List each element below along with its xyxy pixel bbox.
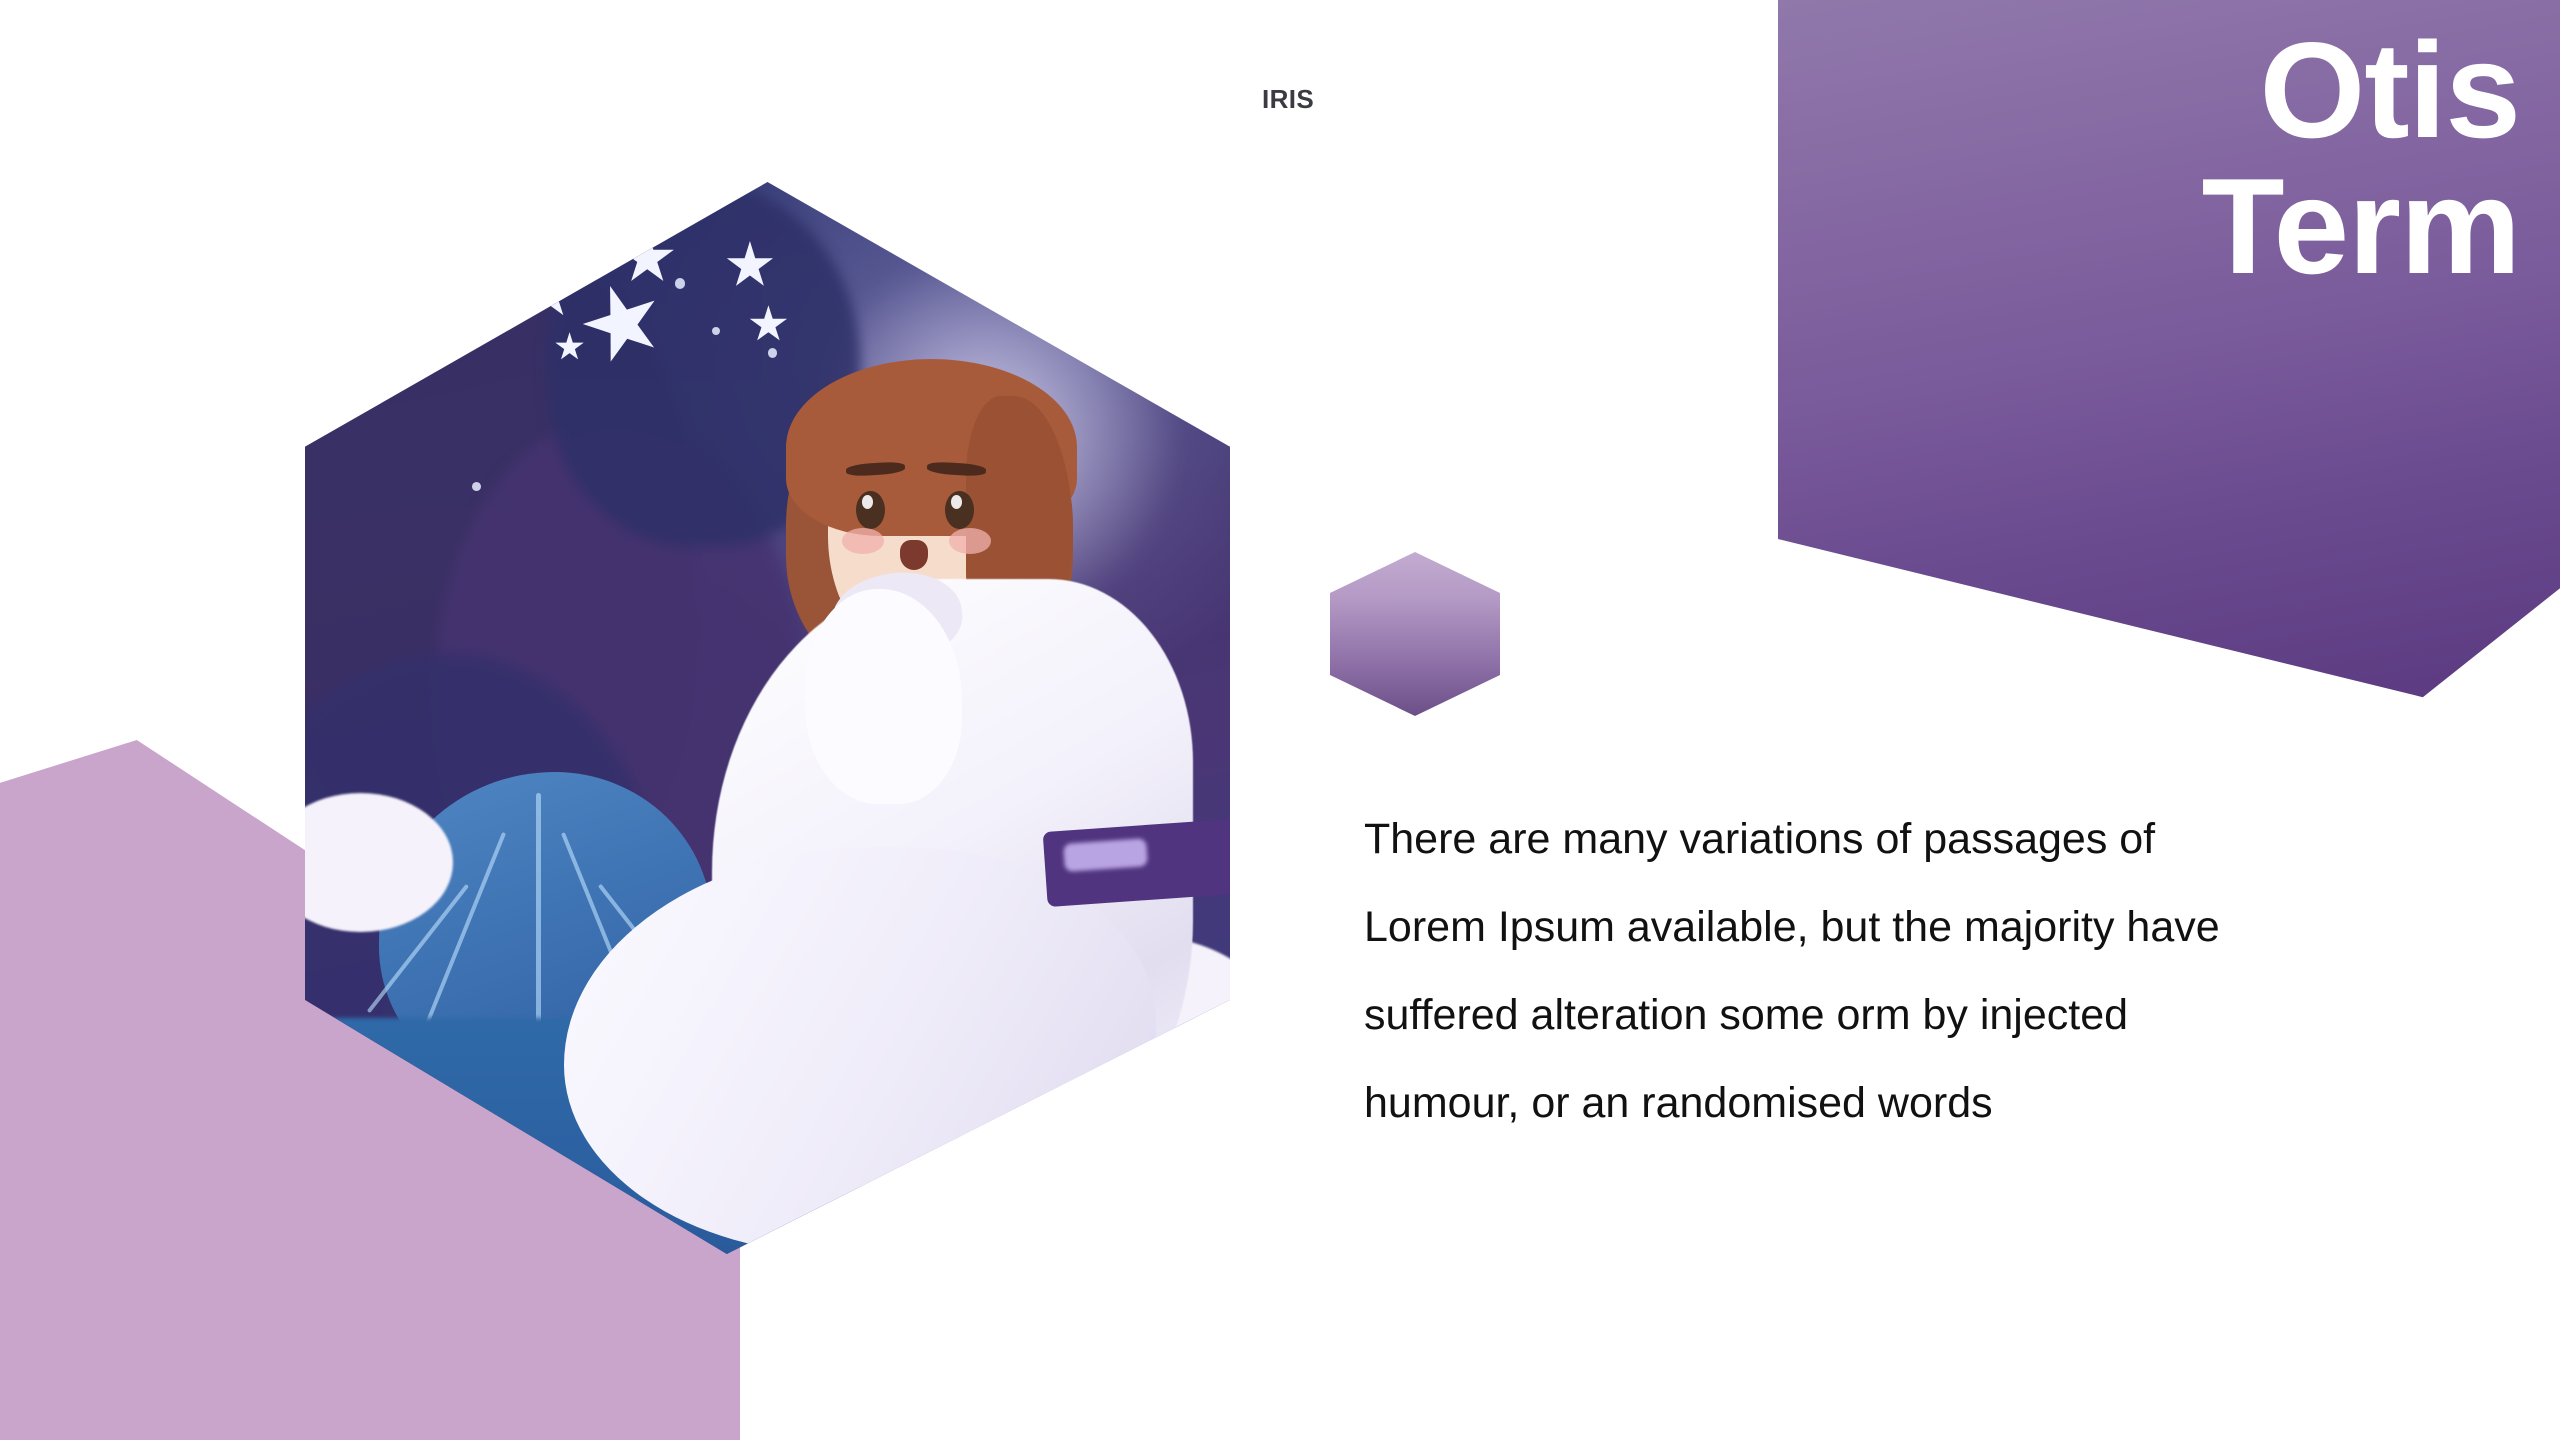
slide-title: Otis Term (1778, 22, 2520, 362)
body-line-1: There are many variations of passages of (1364, 795, 2404, 883)
body-line-2: Lorem Ipsum available, but the majority … (1364, 883, 2404, 971)
presentation-slide: Otis Term IRIS There are many variations… (0, 0, 2560, 1440)
eye-highlight-left (862, 495, 873, 509)
sparkle-dot (768, 348, 777, 358)
body-line-4: humour, or an randomised words (1364, 1059, 2404, 1147)
blush-right (949, 528, 992, 554)
dress-sleeve (805, 589, 962, 803)
purple-hexagon-accent (1330, 552, 1500, 716)
blush-left (842, 528, 885, 554)
brand-label: IRIS (1262, 84, 1314, 115)
eye-highlight-right (951, 495, 962, 509)
sparkle-dot (675, 278, 685, 288)
sparkle-dot (472, 482, 481, 491)
slide-title-line-2: Term (1778, 158, 2520, 294)
slide-title-line-1: Otis (1778, 22, 2520, 158)
body-line-3: suffered alteration some orm by injected (1364, 971, 2404, 1059)
body-paragraph: There are many variations of passages of… (1364, 795, 2404, 1148)
